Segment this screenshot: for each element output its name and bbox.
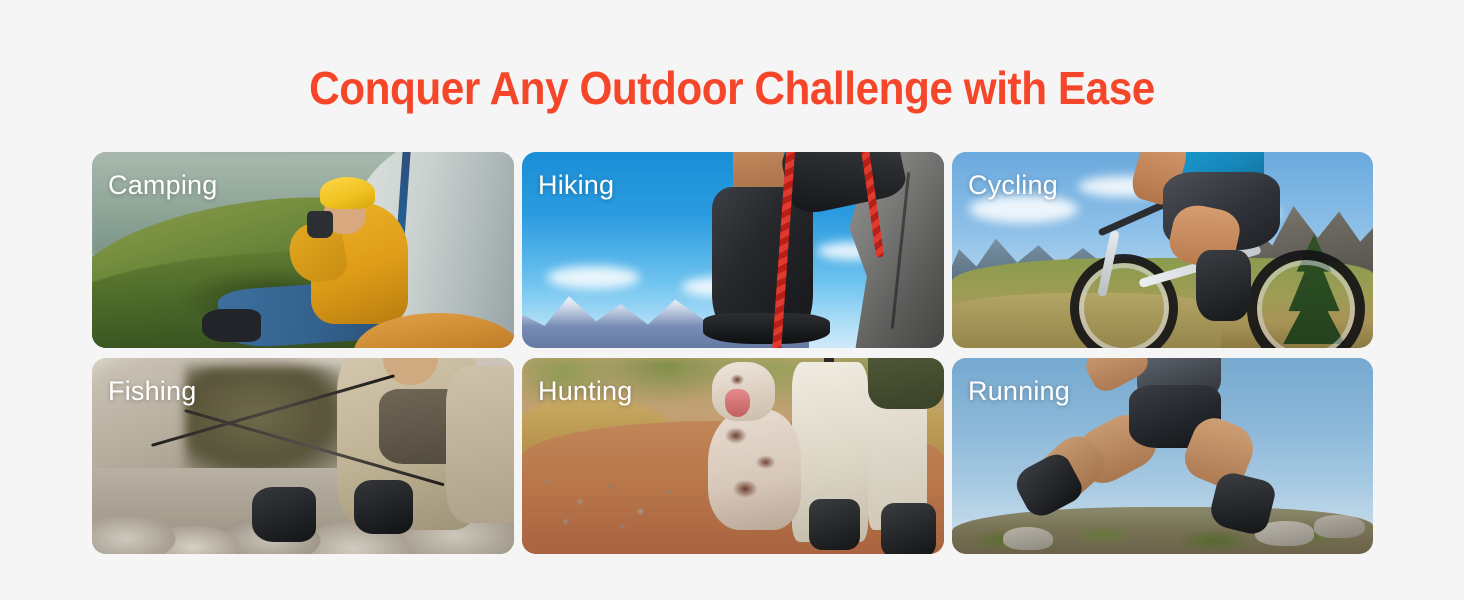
- promo-banner: Conquer Any Outdoor Challenge with Ease: [0, 0, 1464, 600]
- activity-card-label: Hiking: [538, 168, 614, 202]
- activity-card-running[interactable]: Running: [952, 358, 1373, 554]
- activity-card-grid: Camping Hiking: [92, 152, 1373, 556]
- activity-card-cycling[interactable]: Cycling: [952, 152, 1373, 348]
- activity-card-label: Camping: [108, 168, 217, 202]
- activity-card-fishing[interactable]: Fishing: [92, 358, 514, 554]
- activity-card-label: Fishing: [108, 374, 196, 408]
- activity-card-label: Running: [968, 374, 1070, 408]
- activity-card-label: Cycling: [968, 168, 1058, 202]
- activity-card-hiking[interactable]: Hiking: [522, 152, 944, 348]
- page-title: Conquer Any Outdoor Challenge with Ease: [59, 58, 1406, 118]
- activity-card-label: Hunting: [538, 374, 632, 408]
- activity-card-hunting[interactable]: Hunting: [522, 358, 944, 554]
- activity-card-camping[interactable]: Camping: [92, 152, 514, 348]
